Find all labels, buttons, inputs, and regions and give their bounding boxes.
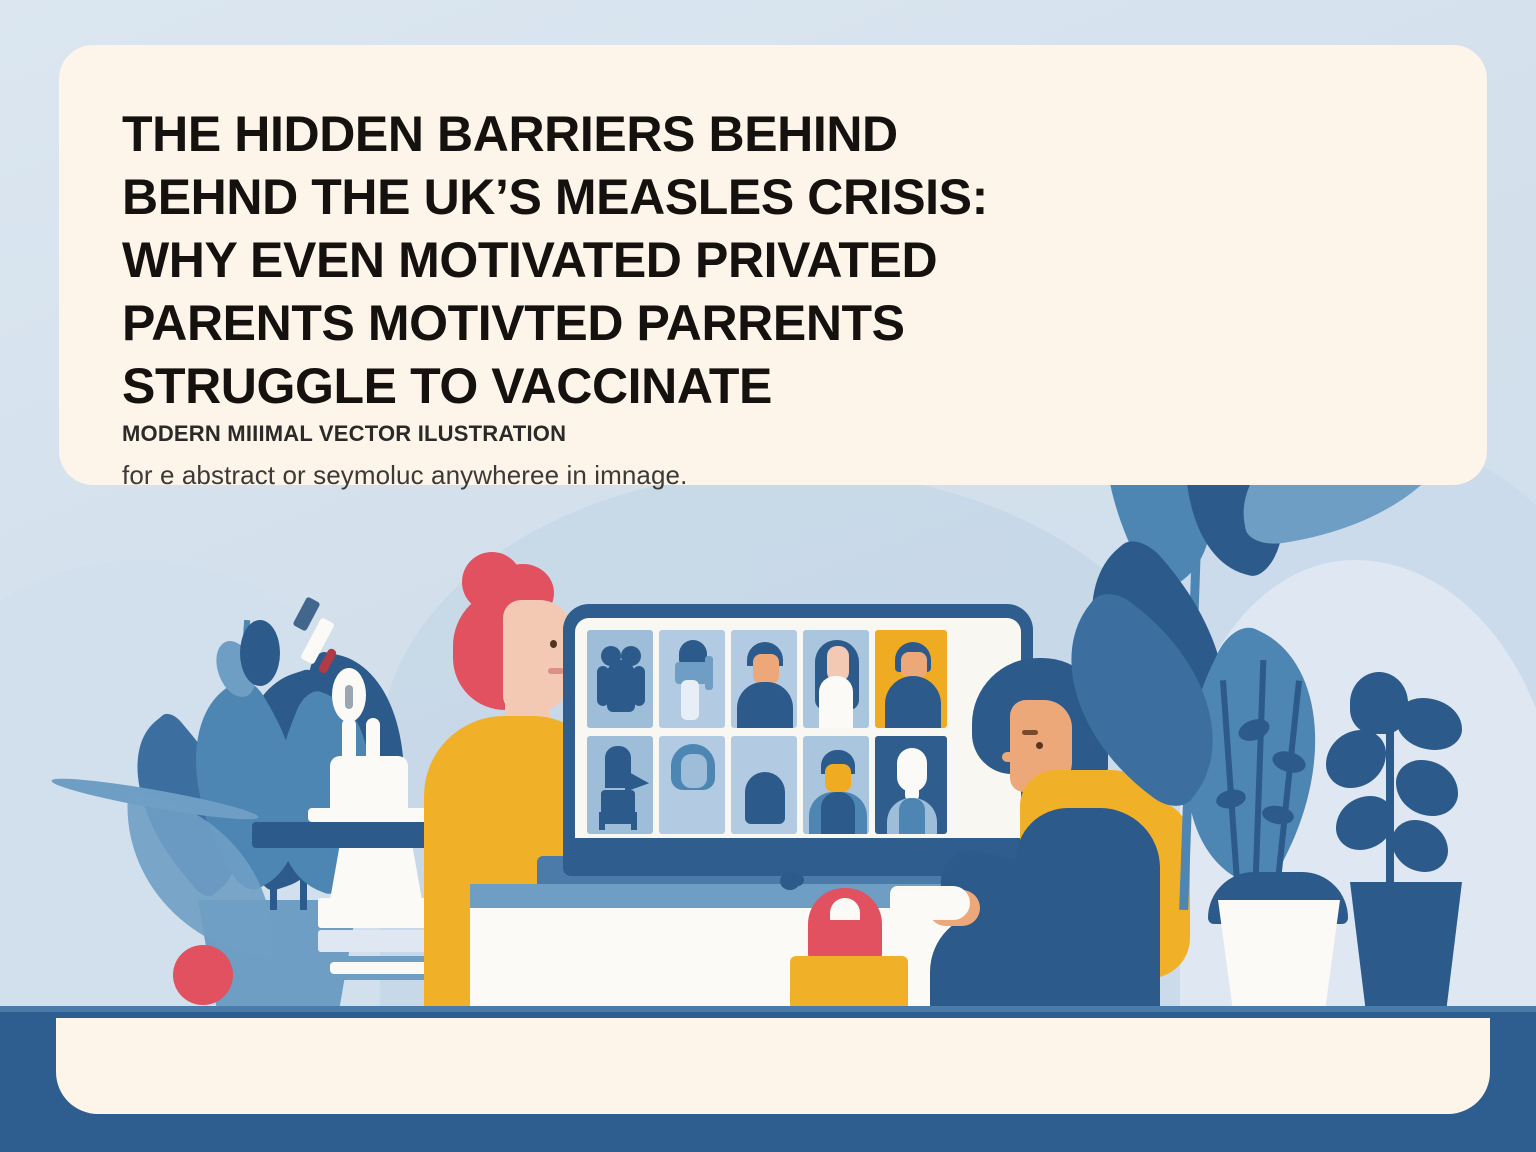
eye [550, 640, 557, 648]
bottom-cream-bar [56, 1018, 1490, 1114]
mouth [548, 668, 564, 674]
subtitle-body: for e abstract or seymoluc anywheree in … [122, 460, 1122, 491]
nose [1002, 752, 1016, 762]
shelf-bar [252, 822, 438, 848]
eyebrow [1022, 730, 1038, 735]
paper [890, 886, 970, 920]
red-ball [173, 945, 233, 1005]
video-tile-6[interactable] [587, 736, 653, 834]
video-tile-8[interactable] [731, 736, 797, 834]
small-decor-dot [792, 874, 804, 886]
yellow-box [790, 956, 908, 1012]
video-tile-3[interactable] [731, 630, 797, 728]
title-line-5: STRUGGLE TO VACCINATE [122, 355, 1122, 418]
legs [930, 912, 1160, 1012]
plant-pot-navy [1350, 882, 1462, 1010]
video-tile-7[interactable] [659, 736, 725, 834]
subtitle-heading: MODERN MIIIMAL VECTOR ILUSTRATION [122, 421, 1122, 447]
tablet-frame [563, 604, 1033, 876]
plant-pot-white [1218, 900, 1340, 1008]
title-line-2: BEHND THE UK’S MEASLES CRISIS: [122, 166, 1122, 229]
tablet-display [575, 618, 1021, 844]
thermometer-mark [345, 685, 353, 709]
page-title: THE HIDDEN BARRIERS BEHIND BEHND THE UK’… [122, 103, 1122, 418]
video-tile-10[interactable] [875, 736, 947, 834]
illustration-canvas: THE HIDDEN BARRIERS BEHIND BEHND THE UK’… [0, 0, 1536, 1152]
video-tile-2[interactable] [659, 630, 725, 728]
video-tile-9[interactable] [803, 736, 869, 834]
title-line-4: PARENTS MOTIVTED PARRENTS [122, 292, 1122, 355]
title-line-1: THE HIDDEN BARRIERS BEHIND [122, 103, 1122, 166]
plant-bud [240, 620, 280, 686]
video-tile-5-active[interactable] [875, 630, 947, 728]
title-card: THE HIDDEN BARRIERS BEHIND BEHND THE UK’… [59, 45, 1487, 485]
eye [1036, 742, 1043, 749]
title-line-3: WHY EVEN MOTIVATED PRIVATED [122, 229, 1122, 292]
video-tile-1[interactable] [587, 630, 653, 728]
video-tile-4[interactable] [803, 630, 869, 728]
